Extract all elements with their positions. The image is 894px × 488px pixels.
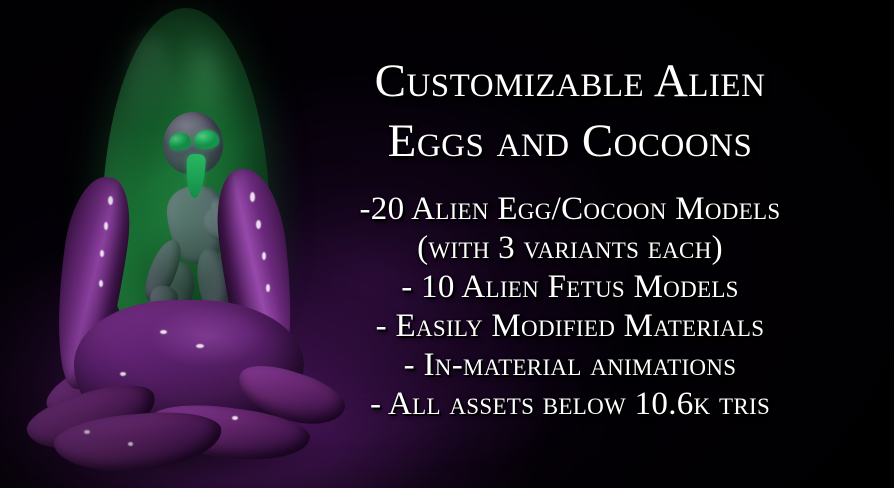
feature-list: -20 Alien Egg/Cocoon Models (with 3 vari… [246,190,894,424]
feature-item: - All assets below 10.6k tris [246,385,894,424]
feature-item: - Easily Modified Materials [246,307,894,346]
feature-item: - In-material animations [246,346,894,385]
feature-item: (with 3 variants each) [246,229,894,268]
title-line-1: Customizable Alien [246,58,894,105]
feature-item: - 10 Alien Fetus Models [246,268,894,307]
feature-item: -20 Alien Egg/Cocoon Models [246,190,894,229]
banner-text-block: Customizable Alien Eggs and Cocoons -20 … [246,0,894,488]
alien-asset-pack-banner: Customizable Alien Eggs and Cocoons -20 … [0,0,894,488]
title-line-2: Eggs and Cocoons [246,118,894,165]
